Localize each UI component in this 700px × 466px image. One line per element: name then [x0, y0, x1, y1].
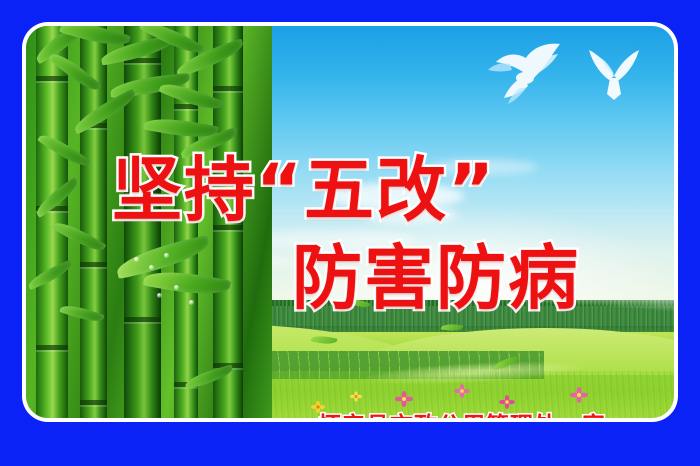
- bamboo-stalk: [36, 26, 68, 418]
- poster-white-frame: 坚持“五改” 防害防病 怀安县市政公用管理处 宣: [22, 22, 678, 422]
- flower-pink: [454, 383, 470, 402]
- flower-pink: [570, 387, 588, 407]
- bamboo-edge-fade: [208, 26, 272, 418]
- issuer-text: 怀安县市政公用管理处 宣: [318, 406, 606, 418]
- poster-root: 图库: [0, 0, 700, 466]
- flower-yellow: [350, 387, 362, 406]
- poster-scene: 坚持“五改” 防害防病 怀安县市政公用管理处 宣: [26, 26, 674, 418]
- cloud: [324, 183, 464, 209]
- dove-right-icon: [583, 42, 645, 104]
- dove-left-icon: [480, 34, 572, 106]
- bamboo-grove: [26, 26, 272, 418]
